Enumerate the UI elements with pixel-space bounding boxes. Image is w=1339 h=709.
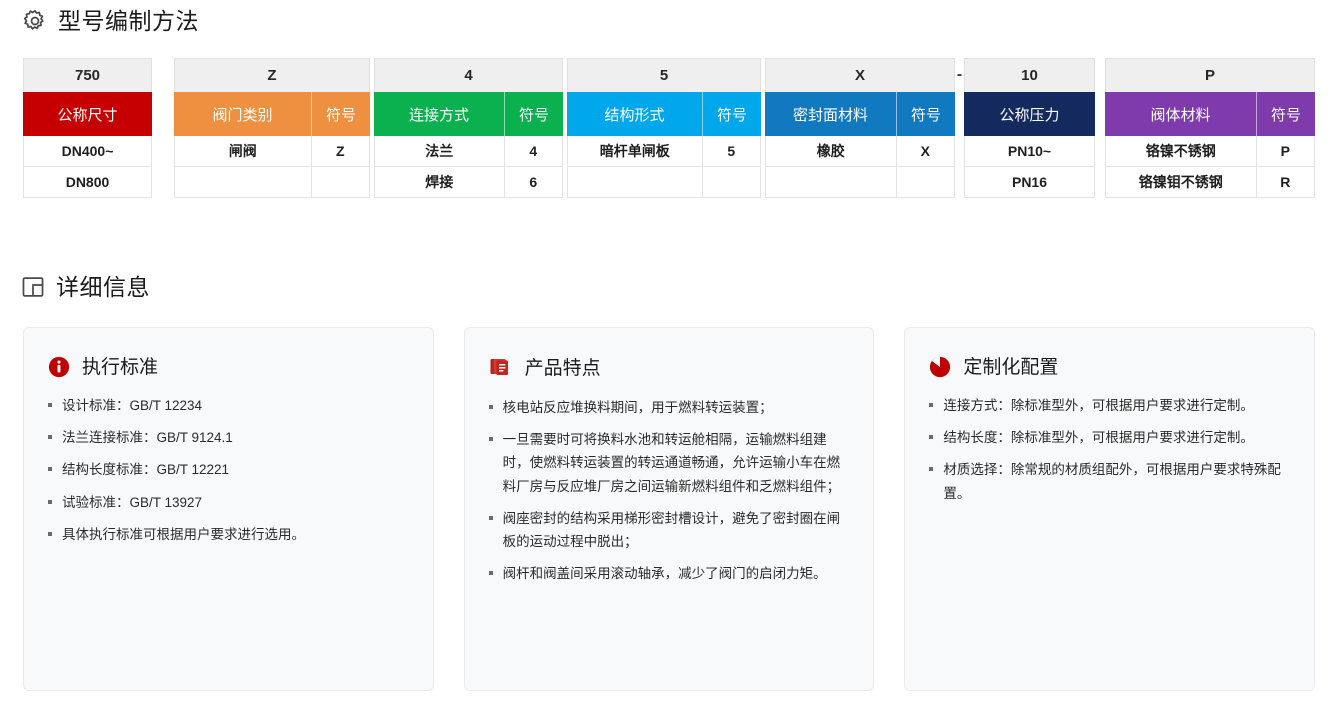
gear-icon: [22, 8, 48, 34]
section-header-model-code: 型号编制方法: [22, 8, 199, 34]
cell-symbol: [703, 167, 760, 197]
section-title-model-code: 型号编制方法: [58, 10, 199, 33]
cell-symbol: 6: [505, 167, 562, 197]
cell-value: 铬镍不锈钢: [1106, 136, 1257, 166]
list-item: 具体执行标准可根据用户要求进行选用。: [48, 523, 409, 546]
list-item: 阀杆和阀盖间采用滚动轴承，减少了阀门的启闭力矩。: [489, 562, 850, 585]
code-group-header: 密封面材料 符号: [765, 92, 955, 136]
cell-value: 焊接: [375, 167, 505, 197]
code-separator-dash: -: [955, 58, 964, 92]
list-item: 设计标准：GB/T 12234: [48, 394, 409, 417]
card-bullet-list: 设计标准：GB/T 12234 法兰连接标准：GB/T 9124.1 结构长度标…: [48, 394, 409, 546]
cell-value: 铬镍钼不锈钢: [1106, 167, 1257, 197]
table-row: [174, 167, 370, 198]
card-product-features: 产品特点 核电站反应堆换料期间，用于燃料转运装置； 一旦需要时可将换料水池和转运…: [464, 327, 875, 691]
code-digit: 4: [374, 58, 563, 92]
list-item: 阀座密封的结构采用梯形密封槽设计，避免了密封圈在闸板的运动过程中脱出；: [489, 507, 850, 553]
table-row: 焊接 6: [374, 167, 563, 198]
cell-symbol: 5: [703, 136, 760, 166]
table-row: PN16: [964, 167, 1095, 198]
header-cell: 连接方式: [374, 92, 505, 136]
cell-value: PN16: [965, 167, 1094, 197]
code-group-header: 连接方式 符号: [374, 92, 563, 136]
code-group-connection: 4 连接方式 符号 法兰 4 焊接 6: [374, 58, 563, 198]
card-title: 执行标准: [82, 358, 158, 377]
table-row: PN10~: [964, 136, 1095, 167]
cell-value: DN400~: [24, 136, 151, 166]
cell-symbol: 4: [505, 136, 562, 166]
code-group-structure: 5 结构形式 符号 暗杆单闸板 5: [567, 58, 761, 198]
list-item: 法兰连接标准：GB/T 9124.1: [48, 426, 409, 449]
code-digit: 10: [964, 58, 1095, 92]
code-digit: P: [1105, 58, 1315, 92]
header-cell: 公称压力: [964, 92, 1095, 136]
header-cell-symbol: 符号: [703, 92, 761, 136]
cell-symbol: X: [897, 136, 954, 166]
list-item: 试验标准：GB/T 13927: [48, 491, 409, 514]
code-group-header: 公称尺寸: [23, 92, 152, 136]
list-item: 结构长度：除标准型外，可根据用户要求进行定制。: [929, 426, 1290, 449]
table-row: 橡胶 X: [765, 136, 955, 167]
table-row: DN800: [23, 167, 152, 198]
cell-symbol: R: [1257, 167, 1314, 197]
card-bullet-list: 连接方式：除标准型外，可根据用户要求进行定制。 结构长度：除标准型外，可根据用户…: [929, 394, 1290, 505]
code-digit: X: [765, 58, 955, 92]
card-title: 定制化配置: [963, 358, 1058, 377]
list-item: 材质选择：除常规的材质组配外，可根据用户要求特殊配置。: [929, 458, 1290, 504]
card-title: 产品特点: [525, 359, 601, 378]
code-group-nominal-pressure: 10 公称压力 PN10~ PN16: [964, 58, 1095, 198]
header-cell-symbol: 符号: [1257, 92, 1315, 136]
table-row: 闸阀 Z: [174, 136, 370, 167]
header-cell: 公称尺寸: [23, 92, 152, 136]
header-cell: 阀体材料: [1105, 92, 1257, 136]
header-cell-symbol: 符号: [897, 92, 955, 136]
cell-value: [175, 167, 312, 197]
cell-value: PN10~: [965, 136, 1094, 166]
cell-value: 闸阀: [175, 136, 312, 166]
cell-symbol: [312, 167, 369, 197]
cell-value: [766, 167, 897, 197]
list-item: 核电站反应堆换料期间，用于燃料转运装置；: [489, 396, 850, 419]
table-row: [567, 167, 761, 198]
list-item: 一旦需要时可将换料水池和转运舱相隔，运输燃料组建时，使燃料转运装置的转运通道畅通…: [489, 428, 850, 498]
table-row: 暗杆单闸板 5: [567, 136, 761, 167]
code-digit: Z: [174, 58, 370, 92]
code-group-seal-material: X 密封面材料 符号 橡胶 X: [765, 58, 955, 198]
card-header: 定制化配置: [929, 356, 1290, 378]
table-row: DN400~: [23, 136, 152, 167]
cell-symbol: [897, 167, 954, 197]
list-item: 连接方式：除标准型外，可根据用户要求进行定制。: [929, 394, 1290, 417]
header-cell: 结构形式: [567, 92, 703, 136]
code-group-header: 阀体材料 符号: [1105, 92, 1315, 136]
header-cell: 阀门类别: [174, 92, 312, 136]
code-digit: 5: [567, 58, 761, 92]
card-bullet-list: 核电站反应堆换料期间，用于燃料转运装置； 一旦需要时可将换料水池和转运舱相隔，运…: [489, 396, 850, 586]
card-header: 执行标准: [48, 356, 409, 378]
code-group-body-material: P 阀体材料 符号 铬镍不锈钢 P 铬镍钼不锈钢 R: [1105, 58, 1315, 198]
code-group-valve-type: Z 阀门类别 符号 闸阀 Z: [174, 58, 370, 198]
section-header-detail: 详细信息: [20, 274, 150, 300]
header-cell: 密封面材料: [765, 92, 897, 136]
cell-symbol: P: [1257, 136, 1314, 166]
detail-cards: 执行标准 设计标准：GB/T 12234 法兰连接标准：GB/T 9124.1 …: [23, 327, 1315, 691]
code-group-header: 公称压力: [964, 92, 1095, 136]
cell-value: [568, 167, 703, 197]
section-title-detail: 详细信息: [56, 276, 150, 299]
header-cell-symbol: 符号: [312, 92, 370, 136]
card-header: 产品特点: [489, 356, 850, 380]
card-custom-configuration: 定制化配置 连接方式：除标准型外，可根据用户要求进行定制。 结构长度：除标准型外…: [904, 327, 1315, 691]
model-code-table: 750 公称尺寸 DN400~ DN800 Z 阀门类别 符号 闸阀 Z: [23, 58, 1315, 198]
cell-value: 暗杆单闸板: [568, 136, 703, 166]
cell-symbol: Z: [312, 136, 369, 166]
code-group-header: 结构形式 符号: [567, 92, 761, 136]
cell-value: 橡胶: [766, 136, 897, 166]
header-cell-symbol: 符号: [505, 92, 563, 136]
table-row: 法兰 4: [374, 136, 563, 167]
pie-chart-icon: [929, 356, 951, 378]
product-spec-page: 型号编制方法 750 公称尺寸 DN400~ DN800 Z 阀门类别 符号 闸: [0, 0, 1339, 709]
table-row: [765, 167, 955, 198]
card-execution-standards: 执行标准 设计标准：GB/T 12234 法兰连接标准：GB/T 9124.1 …: [23, 327, 434, 691]
code-digit: 750: [23, 58, 152, 92]
cell-value: 法兰: [375, 136, 505, 166]
code-group-header: 阀门类别 符号: [174, 92, 370, 136]
info-circle-icon: [48, 356, 70, 378]
table-row: 铬镍不锈钢 P: [1105, 136, 1315, 167]
code-group-nominal-size: 750 公称尺寸 DN400~ DN800: [23, 58, 152, 198]
book-icon: [20, 274, 46, 300]
table-row: 铬镍钼不锈钢 R: [1105, 167, 1315, 198]
documents-icon: [489, 356, 513, 380]
list-item: 结构长度标准：GB/T 12221: [48, 458, 409, 481]
cell-value: DN800: [24, 167, 151, 197]
